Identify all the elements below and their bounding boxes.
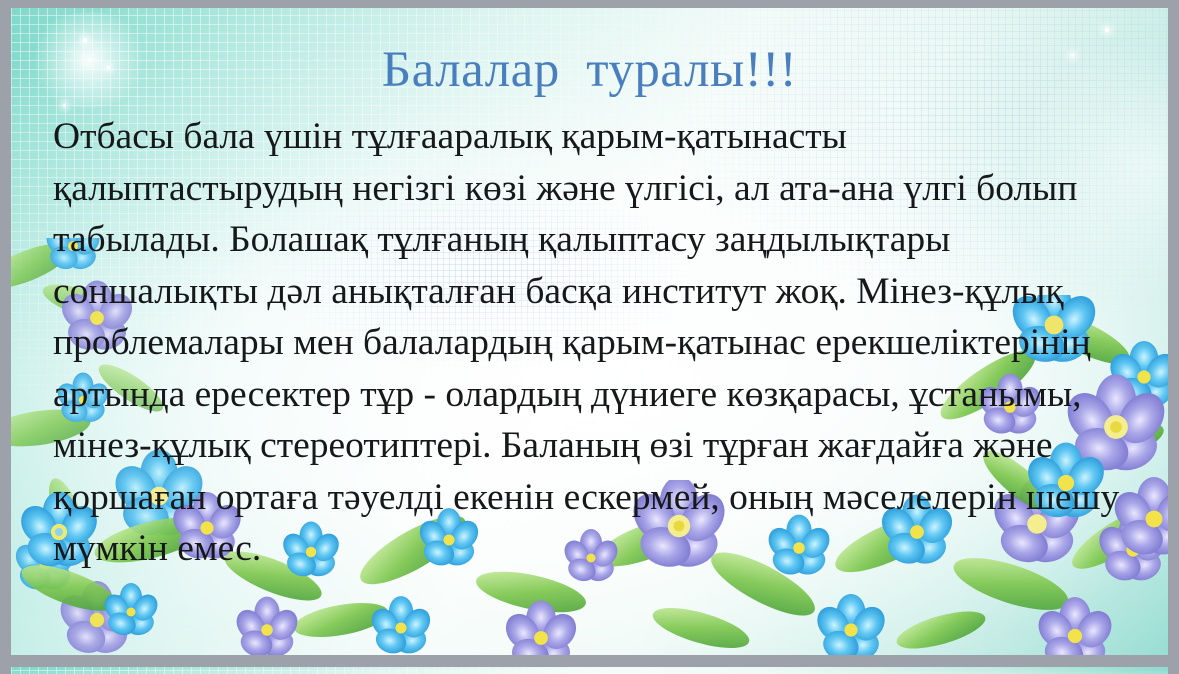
next-slide-grid-texture bbox=[11, 667, 1168, 674]
slide-body-text: Отбасы бала үшін тұлғааралық қарым-қатын… bbox=[53, 111, 1143, 575]
sparkle-decoration bbox=[83, 38, 87, 42]
sparkle-decoration bbox=[63, 104, 66, 107]
slide-title: Балалар туралы!!! bbox=[11, 44, 1168, 98]
slide-canvas: Балалар туралы!!! Отбасы бала үшін тұлға… bbox=[11, 8, 1168, 655]
next-slide-preview[interactable] bbox=[11, 667, 1168, 674]
slide-viewer: Балалар туралы!!! Отбасы бала үшін тұлға… bbox=[0, 0, 1179, 674]
sparkle-decoration bbox=[1105, 28, 1109, 32]
